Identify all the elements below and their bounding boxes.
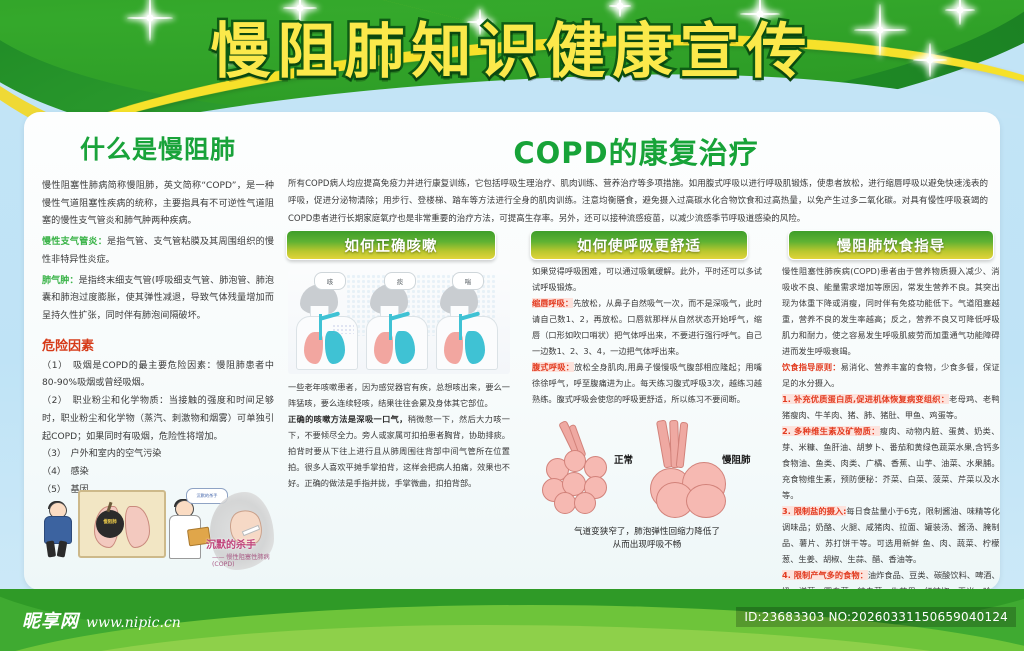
risk-item: （3） 户外和室内的空气污染 <box>42 446 274 464</box>
watermark-site-name: 昵享网 <box>22 607 79 633</box>
label-normal: 正常 <box>614 452 633 466</box>
left-column: 什么是慢阻肺 慢性阻塞性肺病简称慢阻肺，英文简称“COPD”，是一种慢性气道阻塞… <box>42 124 274 500</box>
diet-item-label: 4. 限制产气多的食物： <box>782 570 868 580</box>
caption-line-2: 从而出现呼吸不畅 <box>532 539 762 552</box>
badge-breathe-easier[interactable]: 如何使呼吸更舒适 <box>530 230 748 260</box>
center-heading: COPD的康复治疗 <box>286 130 986 172</box>
cough-column: 咳 痰 喘 一些老年咳嗽患者，因为感觉器官有疾，总想咳出来，要么一阵猛咳，要么连… <box>288 270 510 492</box>
label-wheeze: 喘 <box>452 272 484 290</box>
poster-header: 慢阻肺知识健康宣传 <box>0 0 1024 118</box>
term-label: 腹式呼吸： <box>532 362 574 372</box>
diet-item-label: 2. 多种维生素及矿物质： <box>782 426 880 436</box>
diet-item: 2. 多种维生素及矿物质：瘦肉、动物内脏、蛋黄、奶类、麦芽、米糠、鱼肝油、胡萝卜… <box>782 424 1000 504</box>
image-id-tag: ID:23683303 NO:20260331150659040124 <box>736 607 1016 627</box>
term-label: 慢性支气管炎： <box>42 237 107 247</box>
center-intro-paragraph: 所有COPD病人均应提高免疫力并进行康复训练，它包括呼吸生理治疗、肌肉训练、营养… <box>288 176 988 228</box>
cough-paragraph-1: 一些老年咳嗽患者，因为感觉器官有疾，总想咳出来，要么一阵猛咳，要么连续轻咳，结果… <box>288 380 510 412</box>
bomb-label: 慢阻肺 <box>96 519 124 525</box>
breathing-column: 如果觉得呼吸困难，可以通过吸氧缓解。此外，平时还可以多试试呼吸锻炼。 缩唇呼吸：… <box>532 264 762 554</box>
watermark: 昵享网 www.nipic.cn <box>22 607 181 633</box>
diet-item-label: 3. 限制盐的摄入: <box>782 506 846 516</box>
diet-item: 1. 补充优质蛋白质,促进机体恢复病变组织：老母鸡、老鸭、猪瘦肉、牛羊肉、猪、肺… <box>782 392 1000 424</box>
figure-phlegm <box>364 278 428 370</box>
caption-line-1: 气道变狭窄了，肺泡弹性回缩力降低了 <box>532 526 762 539</box>
alveoli-diagram: 正常 慢阻肺 气道变狭窄了，肺泡弹性 <box>532 414 762 554</box>
pursed-lip-breathing: 缩唇呼吸：先放松，从鼻子自然吸气一次，而不是深吸气，此时请自己数1、2，再放松。… <box>532 296 762 360</box>
risk-item: （4） 感染 <box>42 464 274 482</box>
cough-method-text: 稍微憋一下，然后大力咳一下，不要倾尽全力。旁人或家属可扣拍患者胸背，协助排痰。拍… <box>288 414 510 488</box>
diet-principle: 饮食指导原则：易消化、营养丰富的食物，少食多餐，保证充足的水分摄入。 <box>782 360 1000 392</box>
risk-item: （2） 职业粉尘和化学物质：当接触的强度和时间足够时，职业粉尘和化学物（蒸汽、刺… <box>42 393 274 446</box>
diet-item: 3. 限制盐的摄入:每日食盐量小于6克，限制酱油、味精等化学调味品；奶酪、火腿、… <box>782 504 1000 568</box>
lung-xray-board: 慢阻肺 <box>78 490 166 558</box>
killer-title: 沉默的杀手 <box>206 536 256 551</box>
alveoli-copd <box>650 420 755 520</box>
left-term-chronic-bronchitis: 慢性支气管炎：是指气管、支气管粘膜及其周围组织的慢性非特异性炎症。 <box>42 234 274 269</box>
poster-root: 慢阻肺知识健康宣传 什么是慢阻肺 慢性阻塞性肺病简称慢阻肺，英文简称“COPD”… <box>0 0 1024 651</box>
principle-label: 饮食指导原则： <box>782 362 841 372</box>
silent-killer-illustration: 慢阻肺 沉默的杀手 沉默的杀手 —— 慢性阻塞性肺病(COPD) <box>34 484 274 580</box>
cough-spray-icon <box>332 324 354 334</box>
left-term-emphysema: 肺气肿：是指终末细支气管(呼吸细支气管、肺泡管、肺泡囊和肺泡过度膨胀，使其弹性减… <box>42 273 274 326</box>
poster-footer: 昵享网 www.nipic.cn ID:23683303 NO:20260331… <box>0 589 1024 651</box>
cough-method-lead: 正确的咳嗽方法是深吸一口气， <box>288 414 408 424</box>
risk-factors-heading: 危险因素 <box>42 335 274 354</box>
diet-item-text: 瘦肉、动物内脏、蛋黄、奶类、麦芽、米糠、鱼肝油、胡萝卜、番茄和黄绿色蔬菜水果,含… <box>782 426 1000 500</box>
badge-how-to-cough[interactable]: 如何正确咳嗽 <box>286 230 496 260</box>
diet-paragraph-1: 慢性阻塞性肺疾病(COPD)患者由于营养物质摄入减少、消化吸收不良、能量需求增加… <box>782 264 1000 360</box>
diet-item-label: 1. 补充优质蛋白质,促进机体恢复病变组织： <box>782 394 949 404</box>
killer-subtitle: —— 慢性阻塞性肺病(COPD) <box>212 552 274 568</box>
watermark-site-url: www.nipic.cn <box>86 615 181 631</box>
diet-column: 慢性阻塞性肺疾病(COPD)患者由于营养物质摄入减少、消化吸收不良、能量需求增加… <box>782 264 1000 590</box>
diet-item: 4. 限制产气多的食物：油炸食品、豆类、碳酸饮料、啤酒、牛奶、洋葱、圆白菜、辣白… <box>782 568 1000 590</box>
label-copd: 慢阻肺 <box>722 452 751 466</box>
cough-paragraph-2: 正确的咳嗽方法是深吸一口气，稍微憋一下，然后大力咳一下，不要倾尽全力。旁人或家属… <box>288 412 510 492</box>
left-heading: 什么是慢阻肺 <box>42 130 274 166</box>
page-title: 慢阻肺知识健康宣传 <box>0 22 1024 82</box>
doctor-figure <box>164 500 206 562</box>
abdominal-breathing: 腹式呼吸：放松全身肌肉,用鼻子慢慢吸气腹部相应隆起；用嘴徐徐呼气，呼至腹痛进为止… <box>532 360 762 408</box>
figure-wheeze <box>434 278 498 370</box>
alveoli-caption: 气道变狭窄了，肺泡弹性回缩力降低了 从而出现呼吸不畅 <box>532 526 762 552</box>
section-badges: 如何正确咳嗽 如何使呼吸更舒适 慢阻肺饮食指导 <box>286 230 992 260</box>
breath-paragraph-1: 如果觉得呼吸困难，可以通过吸氧缓解。此外，平时还可以多试试呼吸锻炼。 <box>532 264 762 296</box>
alveoli-normal <box>538 420 638 520</box>
term-label: 缩唇呼吸： <box>532 298 573 308</box>
label-phlegm: 痰 <box>384 272 416 290</box>
cough-illustration: 咳 痰 喘 <box>288 270 510 374</box>
content-panel: 什么是慢阻肺 慢性阻塞性肺病简称慢阻肺，英文简称“COPD”，是一种慢性气道阻塞… <box>24 112 1000 590</box>
term-label: 肺气肿： <box>42 276 79 286</box>
label-cough: 咳 <box>314 272 346 290</box>
risk-item: （1） 吸烟是COPD的最主要危险因素：慢阻肺患者中80-90%吸烟或曾经吸烟。 <box>42 358 274 393</box>
left-intro-paragraph: 慢性阻塞性肺病简称慢阻肺，英文简称“COPD”，是一种慢性气道阻塞性疾病的统称，… <box>42 178 274 231</box>
smoker-figure <box>40 502 78 558</box>
badge-diet-guidance[interactable]: 慢阻肺饮食指导 <box>788 230 994 260</box>
